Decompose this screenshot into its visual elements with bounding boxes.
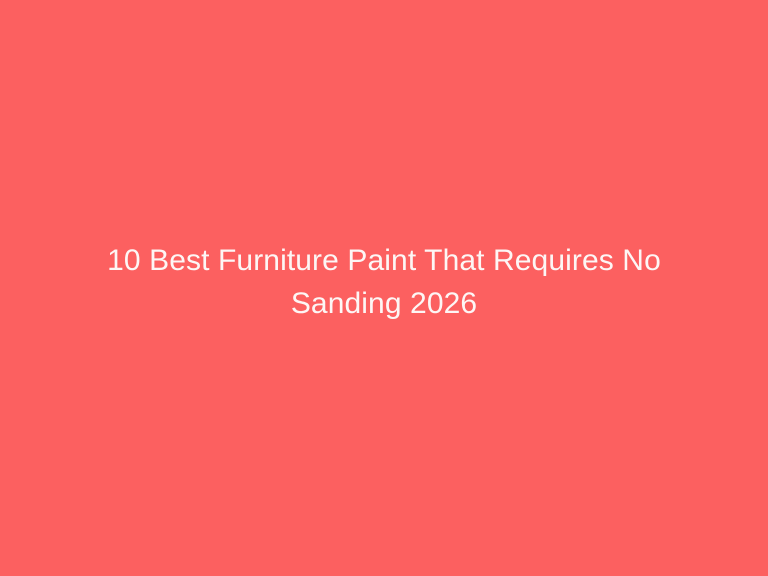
banner-title: 10 Best Furniture Paint That Requires No… bbox=[84, 239, 684, 325]
title-block: 10 Best Furniture Paint That Requires No… bbox=[84, 239, 684, 325]
featured-image-banner: 10 Best Furniture Paint That Requires No… bbox=[0, 0, 768, 576]
